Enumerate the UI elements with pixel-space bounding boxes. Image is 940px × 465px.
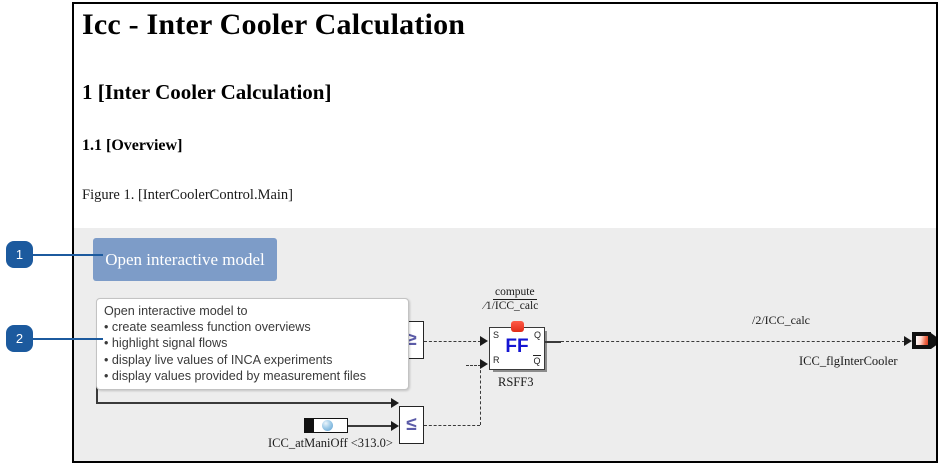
- signal-label-compute-icc-calc: compute ⁄1/ICC_calc: [484, 286, 538, 313]
- arrow-ff-s-input: [480, 336, 488, 346]
- page-title: Icc - Inter Cooler Calculation: [82, 8, 465, 42]
- tooltip-bullet-1: • create seamless function overviews: [104, 319, 401, 335]
- wire-relop-lower-in-b: [348, 425, 391, 427]
- document-frame: Icc - Inter Cooler Calculation 1 [Inter …: [72, 2, 938, 463]
- signal-sphere-icon: [322, 420, 333, 431]
- wire-ff-r-elbow: [466, 365, 481, 366]
- tooltip-bullet-4: • display values provided by measurement…: [104, 368, 401, 384]
- signal-numerator: compute: [493, 286, 537, 300]
- arrow-ff-r-input: [480, 359, 488, 369]
- open-interactive-model-button[interactable]: Open interactive model: [93, 238, 277, 281]
- arrow-output-port: [904, 336, 912, 346]
- input-port-label-icc-atmanioff: ICC_atManiOff <313.0>: [268, 436, 393, 451]
- ff-pin-r: R: [493, 356, 500, 365]
- callout-badge-2[interactable]: 2: [6, 325, 33, 352]
- wire-ff-q-stub: [545, 341, 561, 343]
- tooltip-title: Open interactive model to: [104, 303, 401, 319]
- flip-flop-block-rsff3[interactable]: S R Q Q FF: [489, 327, 545, 370]
- arrow-relop-lower-in-b: [391, 421, 399, 431]
- wire-relop-upper-out: [424, 341, 481, 342]
- port-cap-icon: [305, 419, 314, 432]
- figure-caption: Figure 1. [InterCoolerControl.Main]: [82, 187, 293, 204]
- output-port-label-icc-flgintercooler: ICC_flgInterCooler: [799, 354, 898, 369]
- heading-level-2: 1.1 [Overview]: [82, 137, 182, 155]
- port-swatch-icon: [916, 336, 928, 345]
- relational-operator-lower-block[interactable]: ≤: [399, 406, 424, 444]
- port-arrow-icon: [931, 333, 938, 349]
- heading-level-1: 1 [Inter Cooler Calculation]: [82, 80, 331, 105]
- tooltip-box: Open interactive model to • create seaml…: [96, 298, 409, 390]
- wire-relop-lower-in-a: [96, 402, 391, 404]
- signal-label-icc-calc-out: /2/ICC_calc: [752, 313, 810, 328]
- signal-denominator: 1/ICC_calc: [486, 300, 538, 312]
- less-equal-icon: ≤: [406, 415, 416, 434]
- wire-ff-q-output: [561, 341, 910, 342]
- tooltip-bullet-3: • display live values of INCA experiment…: [104, 352, 401, 368]
- tooltip-bullet-2: • highlight signal flows: [104, 335, 401, 351]
- ff-pin-q-not: Q: [533, 357, 541, 366]
- flip-flop-name-label: RSFF3: [498, 375, 533, 390]
- output-port-icc-flgintercooler[interactable]: [912, 332, 938, 349]
- wire-ff-r-riser: [480, 365, 481, 425]
- wire-relop-lower-out: [424, 425, 480, 426]
- callout-leader-line-1: [30, 254, 103, 256]
- arrow-relop-lower-in-a: [391, 398, 399, 408]
- callout-leader-line-2: [30, 338, 103, 340]
- ff-body-label: FF: [490, 337, 544, 356]
- status-led-icon: [511, 321, 524, 332]
- callout-badge-1[interactable]: 1: [6, 241, 33, 268]
- diagram-panel: Open interactive model ≥ ICC_atManiOff <…: [74, 228, 936, 463]
- port-body-icon: [912, 332, 931, 349]
- input-port-icc-atmanioff[interactable]: [304, 418, 348, 433]
